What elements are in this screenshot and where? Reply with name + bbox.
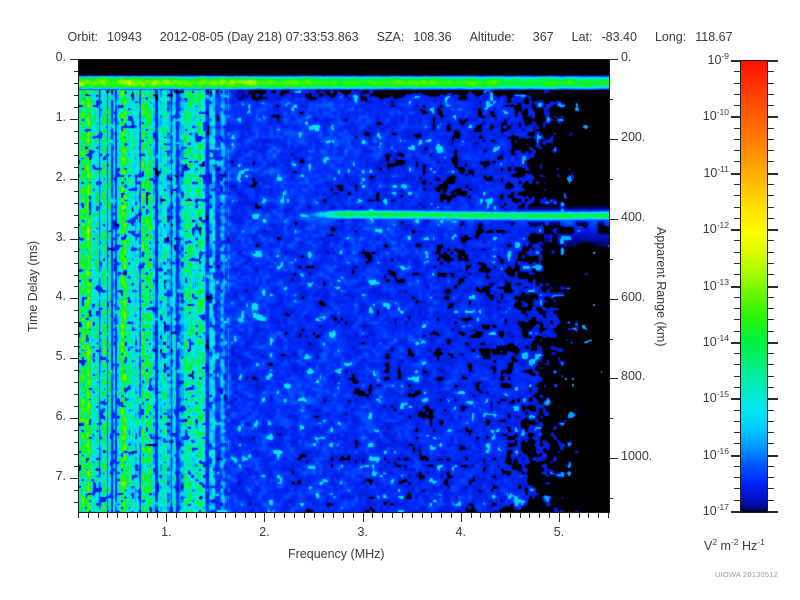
y-axis-minor-tick (74, 430, 78, 431)
colorbar-major-tick (731, 455, 740, 457)
colorbar-major-tick (731, 60, 740, 62)
colorbar-major-tick-right (767, 173, 778, 175)
colorbar-tick-exponent: -14 (717, 333, 729, 343)
colorbar-minor-tick-right (767, 71, 774, 72)
colorbar-minor-tick (734, 297, 740, 298)
ionogram-plot-area (78, 59, 610, 513)
x-axis-minor-tick (176, 513, 177, 518)
y-axis-minor-tick (74, 334, 78, 335)
x-axis-minor-tick (451, 513, 452, 518)
x-axis-minor-tick (215, 513, 216, 518)
x-axis-minor-tick (422, 513, 423, 518)
y-axis-minor-tick (74, 143, 78, 144)
y-axis-major-tick-right (609, 219, 618, 220)
sza-label: SZA: (377, 30, 405, 44)
y-axis-minor-tick (74, 203, 78, 204)
x-axis-minor-tick (137, 513, 138, 518)
x-axis-minor-tick (147, 513, 148, 518)
colorbar-major-tick-right (767, 511, 778, 513)
observation-datetime: 2012-08-05 (Day 218) 07:33:53.863 (160, 30, 359, 44)
x-axis-minor-tick (235, 513, 236, 518)
y-axis-major-tick (70, 179, 78, 180)
colorbar-minor-tick-right (767, 364, 774, 365)
y-axis-major-tick-right (609, 299, 618, 300)
x-axis-minor-tick (78, 513, 79, 518)
x-axis-minor-tick (117, 513, 118, 518)
y-axis-minor-tick (74, 71, 78, 72)
colorbar-minor-tick (734, 195, 740, 196)
y-axis-tick-label-right: 600. (621, 290, 645, 304)
colorbar-tick-mantissa: 10 (703, 166, 717, 180)
ionogram-figure: Orbit:109432012-08-05 (Day 218) 07:33:53… (0, 0, 800, 600)
y-axis-tick-label-right: 800. (621, 369, 645, 383)
colorbar-major-tick-right (767, 60, 778, 62)
colorbar-minor-tick (734, 443, 740, 444)
colorbar-tick-mantissa: 10 (703, 504, 717, 518)
y-axis-minor-tick (74, 346, 78, 347)
y-axis-minor-tick (74, 490, 78, 491)
x-axis-minor-tick (274, 513, 275, 518)
y-axis-minor-tick (74, 275, 78, 276)
y-axis-major-tick (70, 358, 78, 359)
colorbar-minor-tick (734, 477, 740, 478)
altitude-label: Altitude: (470, 30, 515, 44)
x-axis-minor-tick (471, 513, 472, 518)
colorbar-minor-tick-right (767, 500, 774, 501)
colorbar-minor-tick-right (767, 184, 774, 185)
colorbar-tick-label: 10-11 (690, 164, 729, 180)
colorbar-minor-tick-right (767, 297, 774, 298)
y-axis-minor-tick-right (609, 259, 613, 260)
colorbar-tick-mantissa: 10 (703, 279, 717, 293)
x-axis-minor-tick (539, 513, 540, 518)
x-axis-minor-tick (382, 513, 383, 518)
y-axis-major-tick (70, 418, 78, 419)
colorbar-minor-tick (734, 376, 740, 377)
colorbar-tick-label: 10-9 (690, 51, 729, 67)
figure-header: Orbit:109432012-08-05 (Day 218) 07:33:53… (0, 30, 800, 44)
colorbar-minor-tick-right (767, 128, 774, 129)
colorbar-minor-tick-right (767, 477, 774, 478)
figure-credit: UIOWA 20130512 (715, 570, 778, 579)
colorbar-minor-tick (734, 150, 740, 151)
x-axis-minor-tick (412, 513, 413, 518)
colorbar-minor-tick-right (767, 376, 774, 377)
colorbar-tick-label: 10-14 (690, 333, 729, 349)
y-axis-minor-tick (74, 251, 78, 252)
colorbar-minor-tick-right (767, 218, 774, 219)
colorbar-units: V2 m-2 Hz-1 (704, 537, 765, 553)
y-axis-tick-label-left: 6. (0, 409, 66, 423)
x-axis-minor-tick (441, 513, 442, 518)
colorbar-minor-tick (734, 105, 740, 106)
x-axis-tick-label: 2. (234, 525, 294, 539)
colorbar-major-tick-right (767, 398, 778, 400)
y-axis-minor-tick (74, 227, 78, 228)
colorbar-tick-label: 10-17 (690, 502, 729, 518)
colorbar-minor-tick (734, 184, 740, 185)
y-axis-minor-tick (74, 310, 78, 311)
colorbar-minor-tick-right (767, 207, 774, 208)
x-axis-tick-label: 4. (431, 525, 491, 539)
x-axis-minor-tick (372, 513, 373, 518)
x-axis-major-tick (166, 513, 167, 522)
colorbar-minor-tick (734, 387, 740, 388)
colorbar-tick-exponent: -12 (717, 220, 729, 230)
colorbar-minor-tick-right (767, 252, 774, 253)
y-axis-major-tick-right (609, 139, 618, 140)
y-axis-minor-tick (74, 107, 78, 108)
colorbar-minor-tick (734, 240, 740, 241)
colorbar-minor-tick-right (767, 105, 774, 106)
colorbar-minor-tick (734, 218, 740, 219)
colorbar-minor-tick (734, 161, 740, 162)
colorbar-minor-tick-right (767, 240, 774, 241)
colorbar-minor-tick (734, 500, 740, 501)
x-axis-minor-tick (333, 513, 334, 518)
y-axis-tick-label-right: 400. (621, 210, 645, 224)
colorbar-minor-tick-right (767, 94, 774, 95)
units-m-exp: -2 (731, 537, 739, 547)
y-axis-tick-label-left: 7. (0, 469, 66, 483)
colorbar-minor-tick-right (767, 387, 774, 388)
x-axis-minor-tick (579, 513, 580, 518)
colorbar-tick-mantissa: 10 (703, 335, 717, 349)
y-axis-major-tick (70, 478, 78, 479)
y-axis-title-right: Apparent Range (km) (654, 227, 668, 347)
colorbar-major-tick-right (767, 229, 778, 231)
x-axis-tick-label: 5. (529, 525, 589, 539)
x-axis-minor-tick (490, 513, 491, 518)
y-axis-minor-tick (74, 406, 78, 407)
x-axis-minor-tick (431, 513, 432, 518)
y-axis-tick-label-left: 2. (0, 170, 66, 184)
y-axis-major-tick (70, 119, 78, 120)
colorbar (740, 60, 768, 513)
y-axis-tick-label-left: 1. (0, 110, 66, 124)
y-axis-minor-tick (74, 215, 78, 216)
colorbar-minor-tick-right (767, 353, 774, 354)
y-axis-major-tick (70, 239, 78, 240)
x-axis-minor-tick (107, 513, 108, 518)
spectrogram-canvas (79, 60, 609, 512)
x-axis-minor-tick (206, 513, 207, 518)
colorbar-major-tick-right (767, 116, 778, 118)
y-axis-tick-label-right: 0. (621, 50, 631, 64)
units-m: m (717, 539, 731, 553)
colorbar-major-tick (731, 229, 740, 231)
colorbar-gradient (741, 61, 767, 512)
x-axis-minor-tick (294, 513, 295, 518)
x-axis-minor-tick (98, 513, 99, 518)
colorbar-minor-tick (734, 139, 740, 140)
x-axis-minor-tick (284, 513, 285, 518)
x-axis-minor-tick (480, 513, 481, 518)
x-axis-minor-tick (598, 513, 599, 518)
y-axis-minor-tick (74, 394, 78, 395)
y-axis-major-tick-right (609, 378, 618, 379)
colorbar-minor-tick (734, 488, 740, 489)
colorbar-minor-tick (734, 319, 740, 320)
x-axis-minor-tick (353, 513, 354, 518)
y-axis-minor-tick (74, 442, 78, 443)
x-axis-minor-tick (127, 513, 128, 518)
colorbar-minor-tick-right (767, 421, 774, 422)
colorbar-minor-tick (734, 252, 740, 253)
lat-label: Lat: (572, 30, 593, 44)
y-axis-tick-label-left: 0. (0, 50, 66, 64)
colorbar-minor-tick-right (767, 488, 774, 489)
colorbar-minor-tick (734, 364, 740, 365)
x-axis-minor-tick (245, 513, 246, 518)
x-axis-tick-label: 1. (136, 525, 196, 539)
colorbar-minor-tick (734, 274, 740, 275)
y-axis-minor-tick (74, 83, 78, 84)
x-axis-minor-tick (314, 513, 315, 518)
colorbar-minor-tick (734, 353, 740, 354)
y-axis-minor-tick-right (609, 99, 613, 100)
colorbar-minor-tick (734, 71, 740, 72)
x-axis-minor-tick (88, 513, 89, 518)
colorbar-minor-tick-right (767, 150, 774, 151)
colorbar-minor-tick-right (767, 432, 774, 433)
y-axis-minor-tick (74, 191, 78, 192)
colorbar-tick-label: 10-16 (690, 446, 729, 462)
y-axis-minor-tick (74, 382, 78, 383)
colorbar-minor-tick (734, 410, 740, 411)
x-axis-major-tick (559, 513, 560, 522)
colorbar-minor-tick-right (767, 466, 774, 467)
x-axis-minor-tick (225, 513, 226, 518)
y-axis-minor-tick-right (609, 339, 613, 340)
x-axis-major-tick (264, 513, 265, 522)
colorbar-minor-tick (734, 331, 740, 332)
x-axis-minor-tick (608, 513, 609, 518)
colorbar-major-tick (731, 398, 740, 400)
y-axis-major-tick (70, 59, 78, 60)
y-axis-title-left: Time Delay (ms) (26, 241, 40, 332)
x-axis-minor-tick (402, 513, 403, 518)
colorbar-tick-exponent: -9 (721, 51, 729, 61)
colorbar-tick-mantissa: 10 (703, 110, 717, 124)
y-axis-minor-tick-right (609, 418, 613, 419)
x-axis-minor-tick (196, 513, 197, 518)
x-axis-major-tick (363, 513, 364, 522)
colorbar-tick-mantissa: 10 (708, 53, 722, 67)
colorbar-major-tick-right (767, 286, 778, 288)
colorbar-minor-tick (734, 308, 740, 309)
colorbar-minor-tick-right (767, 274, 774, 275)
colorbar-minor-tick-right (767, 161, 774, 162)
x-axis-minor-tick (520, 513, 521, 518)
colorbar-minor-tick-right (767, 195, 774, 196)
y-axis-minor-tick (74, 167, 78, 168)
orbit-label: Orbit: (67, 30, 98, 44)
y-axis-tick-label-left: 5. (0, 349, 66, 363)
colorbar-minor-tick (734, 207, 740, 208)
colorbar-minor-tick (734, 128, 740, 129)
x-axis-minor-tick (323, 513, 324, 518)
y-axis-minor-tick (74, 322, 78, 323)
colorbar-tick-mantissa: 10 (703, 448, 717, 462)
y-axis-major-tick (70, 298, 78, 299)
altitude-value: 367 (533, 30, 554, 44)
y-axis-minor-tick (74, 502, 78, 503)
colorbar-major-tick-right (767, 455, 778, 457)
y-axis-major-tick-right (609, 458, 618, 459)
y-axis-minor-tick-right (609, 498, 613, 499)
y-axis-major-tick-right (609, 59, 618, 60)
x-axis-minor-tick (510, 513, 511, 518)
y-axis-minor-tick (74, 155, 78, 156)
colorbar-minor-tick-right (767, 319, 774, 320)
colorbar-minor-tick-right (767, 410, 774, 411)
colorbar-major-tick-right (767, 342, 778, 344)
colorbar-tick-exponent: -16 (717, 446, 729, 456)
colorbar-major-tick (731, 342, 740, 344)
colorbar-major-tick (731, 116, 740, 118)
x-axis-minor-tick (549, 513, 550, 518)
colorbar-minor-tick-right (767, 331, 774, 332)
colorbar-tick-label: 10-13 (690, 277, 729, 293)
colorbar-minor-tick (734, 421, 740, 422)
colorbar-minor-tick-right (767, 83, 774, 84)
y-axis-minor-tick (74, 466, 78, 467)
long-label: Long: (655, 30, 686, 44)
y-axis-tick-label-right: 200. (621, 130, 645, 144)
x-axis-minor-tick (304, 513, 305, 518)
colorbar-tick-exponent: -15 (717, 389, 729, 399)
colorbar-minor-tick-right (767, 263, 774, 264)
x-axis-minor-tick (529, 513, 530, 518)
colorbar-major-tick (731, 511, 740, 513)
x-axis-tick-label: 3. (333, 525, 393, 539)
x-axis-minor-tick (569, 513, 570, 518)
x-axis-minor-tick (255, 513, 256, 518)
lat-value: -83.40 (601, 30, 636, 44)
colorbar-minor-tick (734, 94, 740, 95)
colorbar-tick-exponent: -17 (717, 502, 729, 512)
x-axis-major-tick (461, 513, 462, 522)
sza-value: 108.36 (413, 30, 451, 44)
y-axis-minor-tick (74, 454, 78, 455)
colorbar-tick-exponent: -11 (717, 164, 729, 174)
x-axis-minor-tick (392, 513, 393, 518)
colorbar-major-tick (731, 173, 740, 175)
x-axis-minor-tick (186, 513, 187, 518)
y-axis-minor-tick (74, 263, 78, 264)
colorbar-major-tick (731, 286, 740, 288)
colorbar-tick-exponent: -13 (717, 277, 729, 287)
y-axis-minor-tick-right (609, 179, 613, 180)
colorbar-minor-tick (734, 83, 740, 84)
colorbar-minor-tick (734, 263, 740, 264)
colorbar-minor-tick-right (767, 443, 774, 444)
units-hz: Hz (739, 539, 758, 553)
x-axis-title: Frequency (MHz) (288, 547, 385, 561)
long-value: 118.67 (695, 30, 732, 44)
x-axis-minor-tick (157, 513, 158, 518)
colorbar-tick-label: 10-15 (690, 389, 729, 405)
orbit-value: 10943 (107, 30, 142, 44)
x-axis-minor-tick (500, 513, 501, 518)
y-axis-minor-tick (74, 370, 78, 371)
y-axis-minor-tick (74, 131, 78, 132)
colorbar-tick-label: 10-10 (690, 107, 729, 123)
y-axis-minor-tick (74, 95, 78, 96)
colorbar-minor-tick-right (767, 139, 774, 140)
colorbar-minor-tick (734, 466, 740, 467)
x-axis-minor-tick (343, 513, 344, 518)
colorbar-minor-tick (734, 432, 740, 433)
colorbar-minor-tick-right (767, 308, 774, 309)
y-axis-tick-label-right: 1000. (621, 449, 652, 463)
y-axis-minor-tick (74, 286, 78, 287)
colorbar-tick-label: 10-12 (690, 220, 729, 236)
colorbar-tick-mantissa: 10 (703, 222, 717, 236)
colorbar-tick-mantissa: 10 (703, 391, 717, 405)
units-hz-exp: -1 (757, 537, 765, 547)
colorbar-tick-exponent: -10 (717, 107, 729, 117)
x-axis-minor-tick (588, 513, 589, 518)
